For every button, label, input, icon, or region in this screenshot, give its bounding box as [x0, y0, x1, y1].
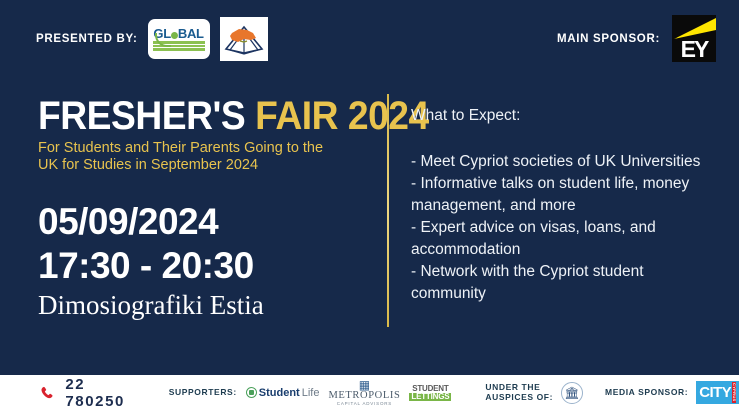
ey-logo-text: EY: [672, 38, 716, 61]
event-poster: PRESENTED BY: GLBAL MAIN SPONSOR: [0, 0, 739, 410]
supporters-group: SUPPORTERS: StudentLife ▦ METROPOLIS CAP…: [169, 379, 452, 407]
title-fresher: FRESHER'S: [38, 94, 245, 138]
global-dot-icon: [171, 32, 178, 39]
event-details-column: FRESHER'S FAIR 2024 For Students and The…: [38, 98, 374, 321]
global-logo: GLBAL: [148, 19, 210, 59]
ey-logo: EY: [672, 15, 716, 62]
global-word-tail: BAL: [178, 26, 204, 41]
auspices-label: UNDER THE AUSPICES OF:: [485, 383, 553, 403]
list-item: - Informative talks on student life, mon…: [411, 173, 721, 217]
city-logo-word: CITY: [699, 385, 731, 400]
page-title: FRESHER'S FAIR 2024: [38, 98, 350, 135]
metropolis-logo: ▦ METROPOLIS CAPITAL ADVISORS: [328, 379, 400, 407]
contact-phone[interactable]: 22 780250: [40, 376, 147, 410]
studentlife-word-b: Life: [302, 387, 320, 399]
what-to-expect-heading: What to Expect:: [411, 106, 721, 127]
city-logo: CITY CYPRUS: [696, 381, 739, 403]
list-item: - Meet Cypriot societies of UK Universit…: [411, 151, 721, 173]
metropolis-tagline: CAPITAL ADVISORS: [337, 402, 392, 407]
list-item: - Network with the Cypriot student commu…: [411, 261, 721, 305]
main-sponsor-group: MAIN SPONSOR: EY: [557, 15, 716, 62]
auspices-group: UNDER THE AUSPICES OF: 🏛: [485, 382, 583, 404]
event-subtitle: For Students and Their Parents Going to …: [38, 140, 374, 174]
media-sponsor-label: MEDIA SPONSOR:: [605, 388, 688, 398]
presented-by-group: PRESENTED BY: GLBAL: [36, 17, 268, 61]
ministry-emblem-icon: 🏛: [561, 382, 583, 404]
studentlife-mark-icon: [246, 387, 257, 398]
phone-icon: [40, 385, 54, 400]
event-subtitle-line2: UK for Studies in September 2024: [38, 157, 374, 174]
list-item: - Expert advice on visas, loans, and acc…: [411, 217, 721, 261]
what-to-expect-list: - Meet Cypriot societies of UK Universit…: [411, 151, 721, 305]
cyprus-book-logo: [220, 17, 268, 61]
poster-body: FRESHER'S FAIR 2024 For Students and The…: [0, 80, 739, 375]
title-fair-year: FAIR 2024: [255, 94, 429, 138]
presented-by-label: PRESENTED BY:: [36, 33, 138, 45]
event-venue: Dimosiografiki Estia: [38, 291, 374, 321]
auspices-label-line1: UNDER THE: [485, 382, 540, 392]
studentlife-logo: StudentLife: [246, 387, 320, 399]
event-date: 05/09/2024: [38, 200, 374, 244]
what-to-expect-column: What to Expect: - Meet Cypriot societies…: [411, 106, 721, 305]
global-logo-wordmark: GLBAL: [153, 27, 203, 40]
supporters-label: SUPPORTERS:: [169, 388, 237, 398]
studentlife-word-a: Student: [259, 387, 300, 399]
phone-number: 22 780250: [65, 376, 146, 410]
main-sponsor-label: MAIN SPONSOR:: [557, 33, 660, 45]
vertical-divider: [387, 94, 389, 327]
metropolis-building-icon: ▦: [359, 379, 370, 391]
student-lettings-word-b: LETTINGS: [409, 393, 451, 401]
media-sponsor-group: MEDIA SPONSOR: CITY CYPRUS: [605, 381, 739, 403]
metropolis-word: METROPOLIS: [328, 391, 400, 402]
poster-header: PRESENTED BY: GLBAL MAIN SPONSOR: [0, 0, 739, 80]
student-lettings-logo: STUDENT LETTINGS: [409, 385, 451, 401]
auspices-label-line2: AUSPICES OF:: [485, 392, 553, 402]
event-time: 17:30 - 20:30: [38, 244, 374, 288]
event-subtitle-line1: For Students and Their Parents Going to …: [38, 140, 374, 157]
poster-footer: 22 780250 SUPPORTERS: StudentLife ▦ METR…: [0, 375, 739, 410]
city-logo-tag: CYPRUS: [732, 382, 736, 402]
